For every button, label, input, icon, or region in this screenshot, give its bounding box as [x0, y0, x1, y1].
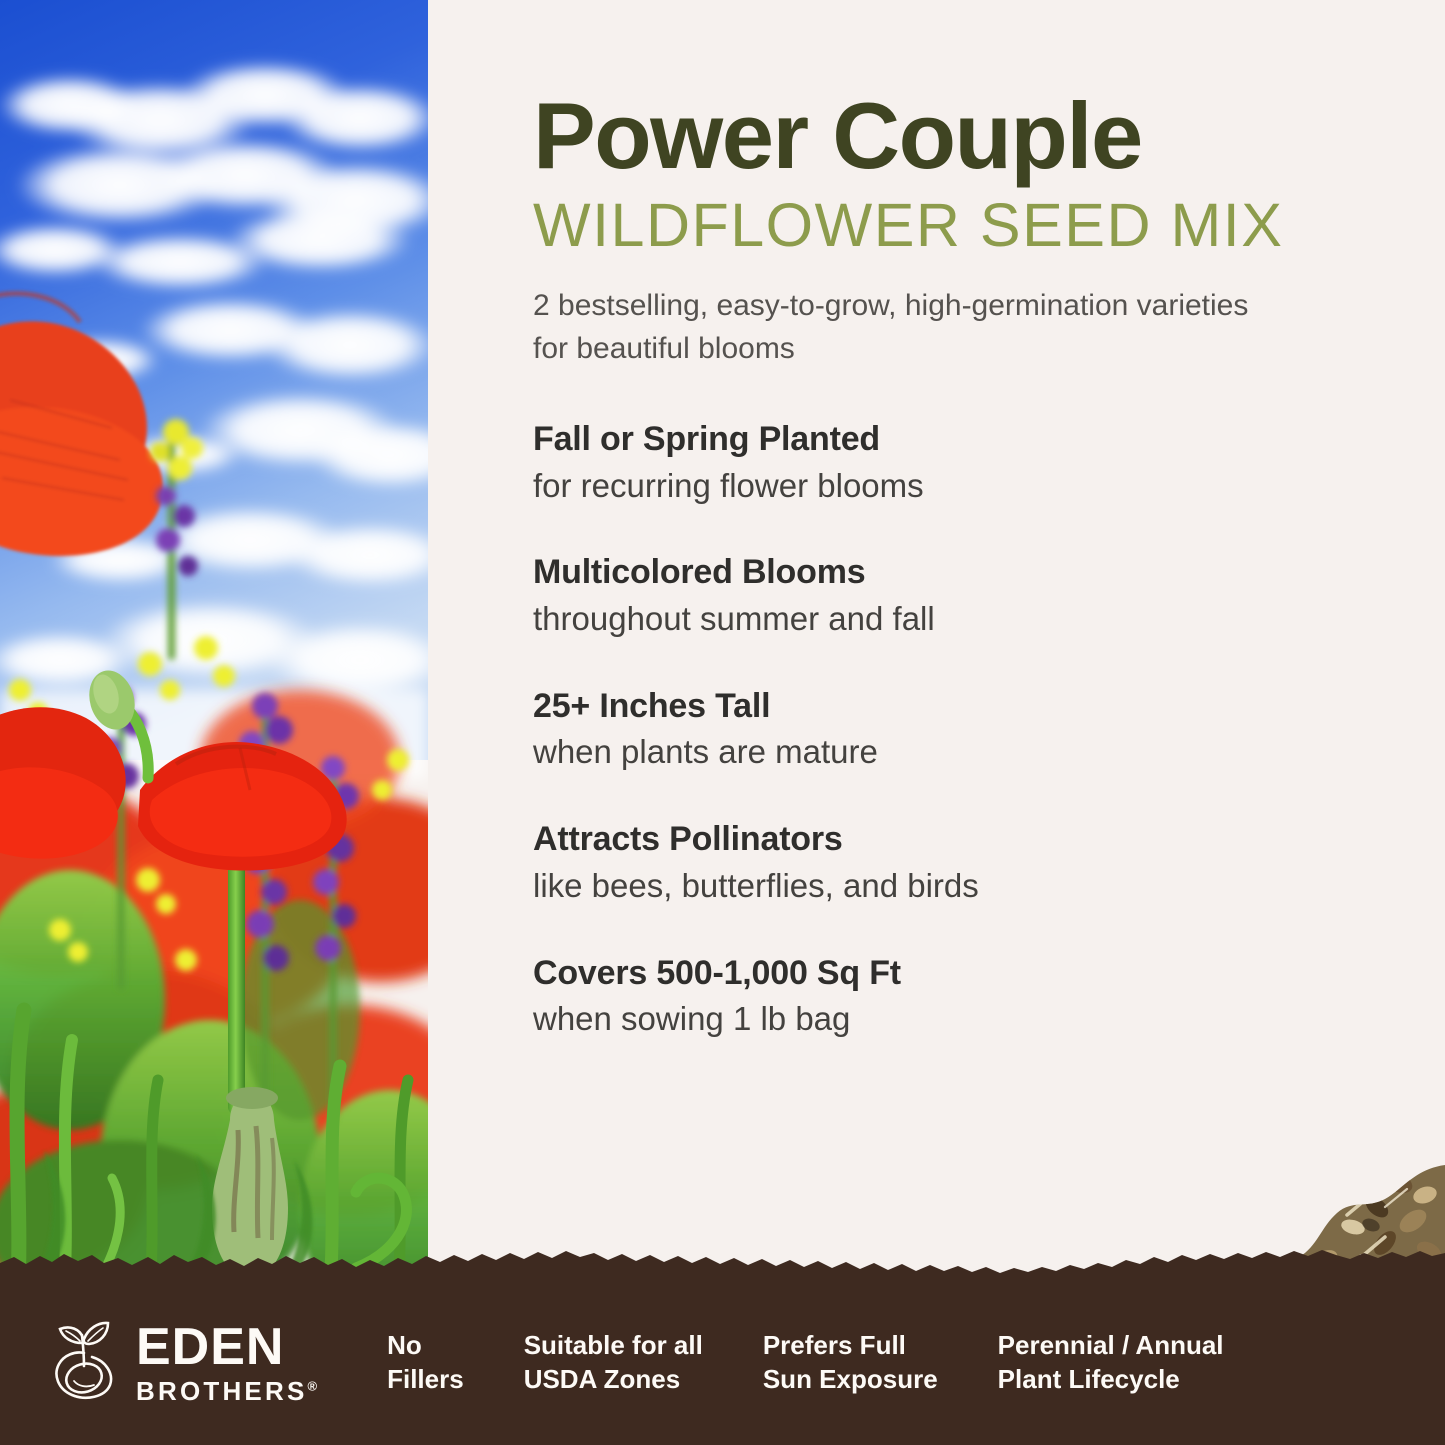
status-badge: Perennial / Annual Plant Lifecycle	[998, 1328, 1224, 1397]
feature-heading: 25+ Inches Tall	[533, 685, 1393, 728]
badge-line-1: No	[387, 1328, 464, 1362]
feature-item: Fall or Spring Planted for recurring flo…	[533, 418, 1393, 507]
product-intro: 2 bestselling, easy-to-grow, high-germin…	[533, 284, 1268, 371]
feature-subtext: when sowing 1 lb bag	[533, 998, 1393, 1041]
feature-item: Covers 500-1,000 Sq Ft when sowing 1 lb …	[533, 952, 1393, 1041]
content-column: Power Couple WILDFLOWER SEED MIX 2 bests…	[428, 0, 1445, 1290]
footer-badges: No Fillers Suitable for all USDA Zones P…	[387, 1328, 1223, 1397]
poppy-field-photo	[0, 0, 428, 1290]
brand-name-primary: EDEN	[136, 1321, 317, 1373]
feature-heading: Covers 500-1,000 Sq Ft	[533, 952, 1393, 995]
badge-line-2: Sun Exposure	[763, 1362, 938, 1396]
brand-logo[interactable]: EDEN BROTHERS®	[48, 1321, 317, 1404]
feature-list: Fall or Spring Planted for recurring flo…	[533, 418, 1393, 1041]
badge-line-2: USDA Zones	[524, 1362, 703, 1396]
status-badge: Suitable for all USDA Zones	[524, 1328, 703, 1397]
feature-subtext: when plants are mature	[533, 731, 1393, 774]
footer-content: EDEN BROTHERS® No Fillers Suitable for a…	[0, 1279, 1445, 1445]
badge-line-1: Suitable for all	[524, 1328, 703, 1362]
feature-heading: Multicolored Blooms	[533, 551, 1393, 594]
title-block: Power Couple WILDFLOWER SEED MIX 2 bests…	[533, 88, 1393, 371]
brand-name-secondary: BROTHERS®	[136, 1378, 317, 1404]
feature-subtext: for recurring flower blooms	[533, 465, 1393, 508]
eden-sprout-logo-icon	[48, 1321, 122, 1403]
badge-line-2: Plant Lifecycle	[998, 1362, 1224, 1396]
badge-line-1: Perennial / Annual	[998, 1328, 1224, 1362]
badge-line-1: Prefers Full	[763, 1328, 938, 1362]
feature-item: Attracts Pollinators like bees, butterfl…	[533, 818, 1393, 907]
page-title: Power Couple	[533, 88, 1393, 184]
feature-item: Multicolored Blooms throughout summer an…	[533, 551, 1393, 640]
badge-line-2: Fillers	[387, 1362, 464, 1396]
soil-footer-bar: EDEN BROTHERS® No Fillers Suitable for a…	[0, 1245, 1445, 1445]
feature-item: 25+ Inches Tall when plants are mature	[533, 685, 1393, 774]
feature-subtext: like bees, butterflies, and birds	[533, 865, 1393, 908]
infographic-canvas: Power Couple WILDFLOWER SEED MIX 2 bests…	[0, 0, 1445, 1445]
feature-heading: Attracts Pollinators	[533, 818, 1393, 861]
feature-heading: Fall or Spring Planted	[533, 418, 1393, 461]
status-badge: Prefers Full Sun Exposure	[763, 1328, 938, 1397]
status-badge: No Fillers	[387, 1328, 464, 1397]
brand-wordmark: EDEN BROTHERS®	[136, 1321, 317, 1404]
feature-subtext: throughout summer and fall	[533, 598, 1393, 641]
registered-trademark-icon: ®	[308, 1378, 318, 1393]
product-subtitle: WILDFLOWER SEED MIX	[533, 190, 1393, 262]
